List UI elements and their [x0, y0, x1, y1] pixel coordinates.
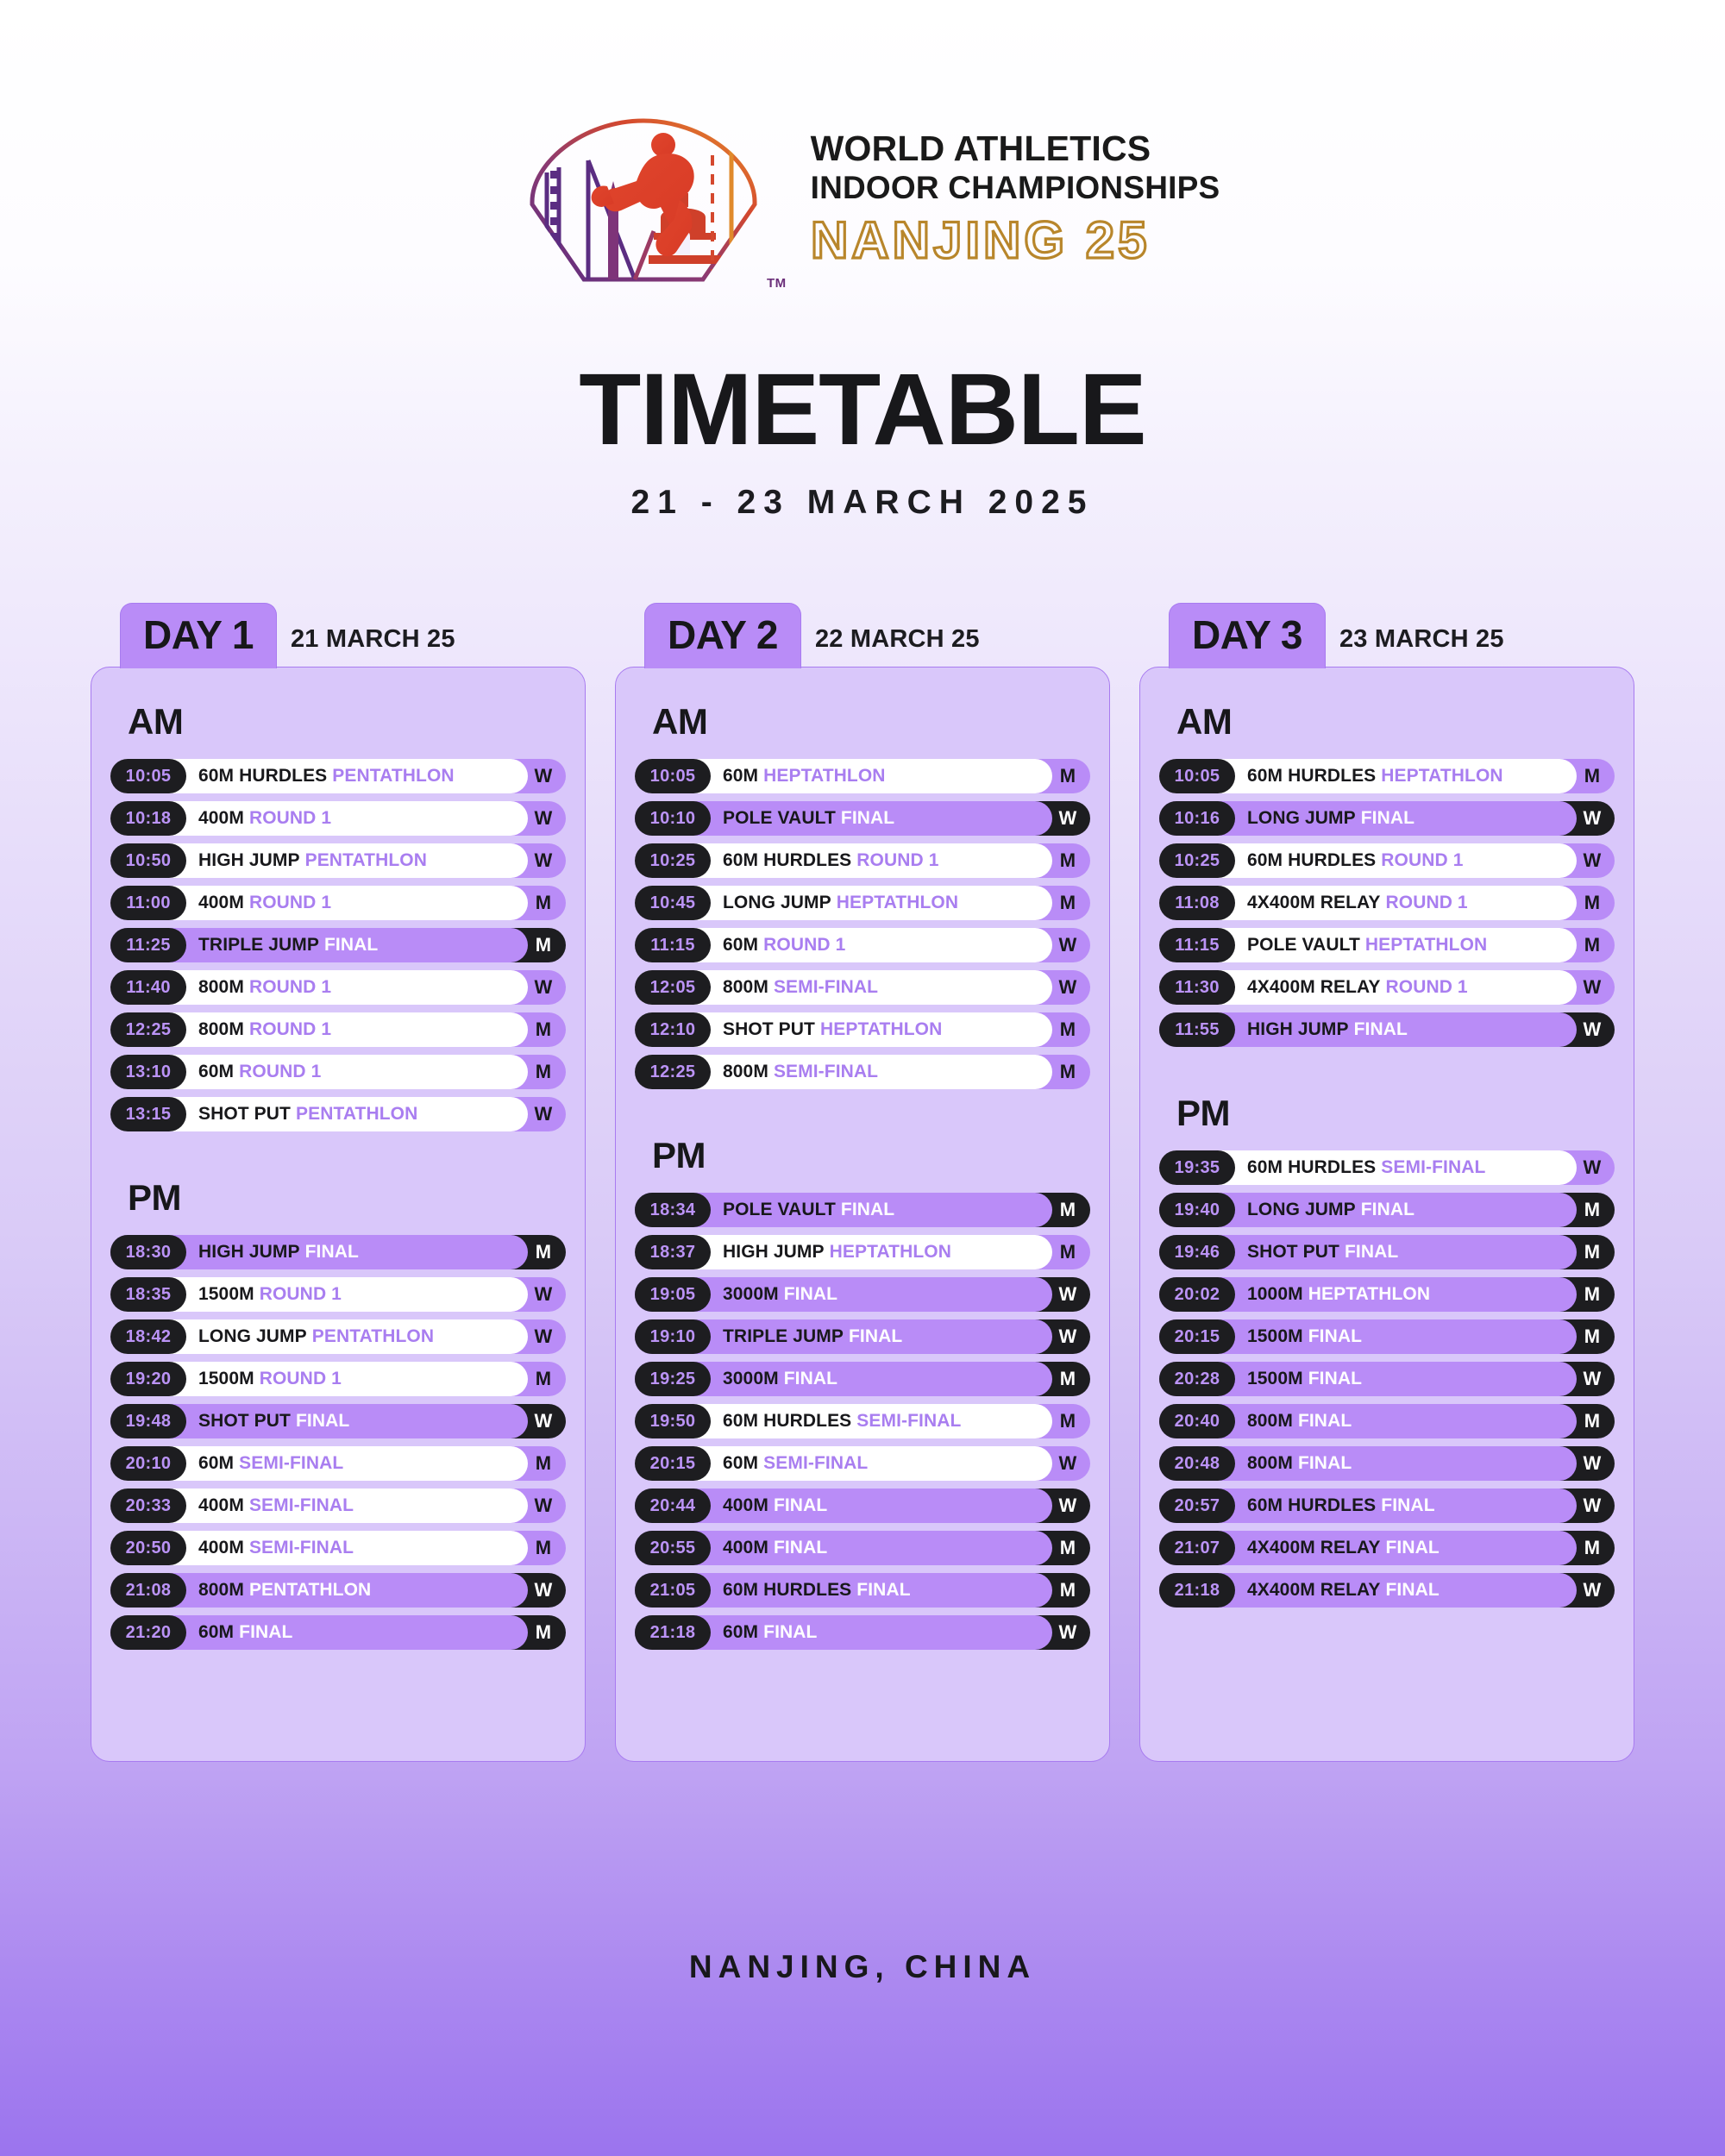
gender-badge: W [1570, 1362, 1615, 1396]
event-time: 20:28 [1159, 1362, 1235, 1396]
event-row[interactable]: 19:3560M HURDLESSEMI-FINALW [1159, 1150, 1615, 1185]
event-pill: 13:15SHOT PUTPENTATHLON [110, 1097, 528, 1131]
days-grid: DAY 121 MARCH 25AM10:0560M HURDLESPENTAT… [91, 603, 1634, 1762]
event-row[interactable]: 11:25TRIPLE JUMPFINALM [110, 928, 566, 962]
gender-badge: M [1045, 759, 1090, 793]
gender-badge: W [1045, 970, 1090, 1005]
event-pill: 21:08800MPENTATHLON [110, 1573, 528, 1608]
event-time: 11:08 [1159, 886, 1235, 920]
event-name-and-stage: 60MFINAL [723, 1622, 817, 1643]
event-pill: 10:0560MHEPTATHLON [635, 759, 1052, 793]
event-discipline: 60M HURDLES [1247, 850, 1376, 870]
gender-badge: M [521, 1362, 566, 1396]
event-time: 19:05 [635, 1277, 711, 1312]
event-name-and-stage: SHOT PUTFINAL [1247, 1242, 1398, 1263]
event-row[interactable]: 11:15POLE VAULTHEPTATHLONM [1159, 928, 1615, 962]
event-pill: 11:1560MROUND 1 [635, 928, 1052, 962]
event-stage: FINAL [1361, 1200, 1414, 1219]
event-stage: HEPTATHLON [837, 893, 958, 912]
day-header: DAY 222 MARCH 25 [615, 603, 1110, 668]
event-stage: FINAL [239, 1622, 292, 1642]
event-stage: PENTATHLON [305, 850, 427, 870]
event-name-and-stage: 60M HURDLESSEMI-FINAL [723, 1411, 961, 1432]
event-time: 20:44 [635, 1489, 711, 1523]
gender-badge: W [1045, 1615, 1090, 1650]
event-name-and-stage: 60MFINAL [198, 1622, 292, 1643]
event-time: 18:34 [635, 1193, 711, 1227]
event-row[interactable]: 11:00400MROUND 1M [110, 886, 566, 920]
gender-badge: M [1570, 1531, 1615, 1565]
event-time: 21:20 [110, 1615, 186, 1650]
gender-badge: W [521, 1573, 566, 1608]
event-discipline: HIGH JUMP [198, 1242, 300, 1262]
event-stage: ROUND 1 [1386, 977, 1468, 997]
event-pill: 19:053000MFINAL [635, 1277, 1052, 1312]
event-stage: FINAL [305, 1242, 359, 1262]
event-rows-pm: 18:34POLE VAULTFINALM18:37HIGH JUMPHEPTA… [635, 1193, 1090, 1650]
gender-badge: M [1045, 1012, 1090, 1047]
event-name-and-stage: LONG JUMPFINAL [1247, 808, 1414, 829]
event-time: 21:07 [1159, 1531, 1235, 1565]
event-stage: PENTATHLON [296, 1104, 417, 1124]
event-stage: FINAL [1298, 1411, 1352, 1431]
event-discipline: 60M [723, 1622, 758, 1642]
event-discipline: 1500M [1247, 1369, 1303, 1388]
event-pill: 12:25800MSEMI-FINAL [635, 1055, 1052, 1089]
event-time: 10:16 [1159, 801, 1235, 836]
event-stage: SEMI-FINAL [774, 977, 878, 997]
event-pill: 20:151500MFINAL [1159, 1319, 1577, 1354]
event-time: 11:40 [110, 970, 186, 1005]
event-name-and-stage: LONG JUMPHEPTATHLON [723, 893, 958, 913]
event-time: 10:18 [110, 801, 186, 836]
gender-badge: W [521, 843, 566, 878]
event-name-and-stage: POLE VAULTFINAL [723, 808, 894, 829]
gender-badge: M [1045, 1573, 1090, 1608]
event-discipline: SHOT PUT [198, 1104, 291, 1124]
day-date: 23 MARCH 25 [1339, 625, 1504, 668]
event-name-and-stage: TRIPLE JUMPFINAL [198, 935, 378, 956]
event-row[interactable]: 19:10TRIPLE JUMPFINALW [635, 1319, 1090, 1354]
event-row[interactable]: 18:42LONG JUMPPENTATHLONW [110, 1319, 566, 1354]
event-discipline: 800M [723, 977, 768, 997]
event-name-and-stage: 4X400M RELAYFINAL [1247, 1580, 1440, 1601]
event-stage: ROUND 1 [239, 1062, 321, 1081]
event-stage: FINAL [784, 1369, 837, 1388]
event-row[interactable]: 20:281500MFINALW [1159, 1362, 1615, 1396]
event-discipline: 60M [723, 766, 758, 786]
event-name-and-stage: 60MHEPTATHLON [723, 766, 886, 787]
event-discipline: 60M HURDLES [1247, 1495, 1376, 1515]
event-pill: 11:00400MROUND 1 [110, 886, 528, 920]
event-discipline: LONG JUMP [1247, 1200, 1356, 1219]
event-discipline: HIGH JUMP [1247, 1019, 1349, 1039]
gender-badge: W [521, 970, 566, 1005]
gender-badge: M [1570, 759, 1615, 793]
event-stage: FINAL [774, 1538, 827, 1557]
event-name-and-stage: 800MROUND 1 [198, 977, 331, 998]
event-pill: 20:40800MFINAL [1159, 1404, 1577, 1438]
event-pill: 20:5760M HURDLESFINAL [1159, 1489, 1577, 1523]
event-pill: 18:351500MROUND 1 [110, 1277, 528, 1312]
event-name-and-stage: HIGH JUMPFINAL [1247, 1019, 1408, 1040]
event-stage: ROUND 1 [1381, 850, 1463, 870]
event-row[interactable]: 21:074X400M RELAYFINALM [1159, 1531, 1615, 1565]
gender-badge: M [1045, 1362, 1090, 1396]
event-stage: FINAL [1354, 1019, 1408, 1039]
event-row[interactable]: 19:40LONG JUMPFINALM [1159, 1193, 1615, 1227]
event-row[interactable]: 19:253000MFINALM [635, 1362, 1090, 1396]
event-name-and-stage: LONG JUMPPENTATHLON [198, 1326, 434, 1347]
event-name-and-stage: 4X400M RELAYROUND 1 [1247, 893, 1468, 913]
event-time: 10:05 [635, 759, 711, 793]
session-label-pm: PM [110, 1131, 566, 1235]
event-discipline: 60M [723, 935, 758, 955]
event-discipline: 60M HURDLES [1247, 1157, 1376, 1177]
event-discipline: SHOT PUT [198, 1411, 291, 1431]
event-name-and-stage: POLE VAULTFINAL [723, 1200, 894, 1220]
event-stage: HEPTATHLON [820, 1019, 942, 1039]
event-name-and-stage: 3000MFINAL [723, 1369, 837, 1389]
event-pill: 19:40LONG JUMPFINAL [1159, 1193, 1577, 1227]
event-time: 20:48 [1159, 1446, 1235, 1481]
event-discipline: 60M HURDLES [198, 766, 327, 786]
event-discipline: 1500M [198, 1369, 254, 1388]
gender-badge: M [521, 1055, 566, 1089]
event-time: 10:25 [1159, 843, 1235, 878]
event-stage: SEMI-FINAL [763, 1453, 868, 1473]
gender-badge: M [1570, 886, 1615, 920]
event-name-and-stage: 1500MFINAL [1247, 1369, 1362, 1389]
event-pill: 10:0560M HURDLESHEPTATHLON [1159, 759, 1577, 793]
session-label-pm: PM [635, 1089, 1090, 1193]
event-row[interactable]: 21:1860MFINALW [635, 1615, 1090, 1650]
event-row[interactable]: 12:25800MSEMI-FINALM [635, 1055, 1090, 1089]
event-time: 11:15 [635, 928, 711, 962]
event-row[interactable]: 13:1060MROUND 1M [110, 1055, 566, 1089]
event-row[interactable]: 10:10POLE VAULTFINALW [635, 801, 1090, 836]
event-stage: PENTATHLON [249, 1580, 371, 1600]
gender-badge: W [1570, 1489, 1615, 1523]
event-time: 19:25 [635, 1362, 711, 1396]
event-time: 20:57 [1159, 1489, 1235, 1523]
session-label-pm: PM [1159, 1047, 1615, 1150]
event-row[interactable]: 18:34POLE VAULTFINALM [635, 1193, 1090, 1227]
event-name-and-stage: 400MFINAL [723, 1538, 827, 1558]
gender-badge: W [1045, 1446, 1090, 1481]
event-row[interactable]: 20:021000MHEPTATHLONM [1159, 1277, 1615, 1312]
event-row[interactable]: 10:45LONG JUMPHEPTATHLONM [635, 886, 1090, 920]
event-time: 10:50 [110, 843, 186, 878]
event-discipline: SHOT PUT [723, 1019, 815, 1039]
event-row[interactable]: 10:2560M HURDLESROUND 1M [635, 843, 1090, 878]
event-discipline: 400M [198, 808, 244, 828]
event-time: 11:00 [110, 886, 186, 920]
event-stage: FINAL [1298, 1453, 1352, 1473]
page-header: TM WORLD ATHLETICS INDOOR CHAMPIONSHIPS … [0, 0, 1725, 522]
event-pill: 19:253000MFINAL [635, 1362, 1052, 1396]
event-row[interactable]: 20:44400MFINALW [635, 1489, 1090, 1523]
event-discipline: 60M [198, 1062, 234, 1081]
event-discipline: POLE VAULT [723, 808, 836, 828]
event-discipline: HIGH JUMP [723, 1242, 825, 1262]
event-time: 13:15 [110, 1097, 186, 1131]
event-pill: 12:25800MROUND 1 [110, 1012, 528, 1047]
event-time: 19:46 [1159, 1235, 1235, 1269]
event-name-and-stage: 60M HURDLESSEMI-FINAL [1247, 1157, 1485, 1178]
event-row[interactable]: 10:2560M HURDLESROUND 1W [1159, 843, 1615, 878]
event-stage: FINAL [1361, 808, 1414, 828]
session-label-am: AM [110, 690, 566, 759]
event-discipline: 4X400M RELAY [1247, 893, 1381, 912]
gender-badge: W [1570, 1012, 1615, 1047]
event-row[interactable]: 10:18400MROUND 1W [110, 801, 566, 836]
event-name-and-stage: 1500MROUND 1 [198, 1284, 342, 1305]
event-name-and-stage: SHOT PUTHEPTATHLON [723, 1019, 942, 1040]
event-row[interactable]: 10:0560M HURDLESHEPTATHLONM [1159, 759, 1615, 793]
gender-badge: W [521, 1404, 566, 1438]
gender-badge: W [1570, 801, 1615, 836]
event-stage: ROUND 1 [249, 977, 331, 997]
event-row[interactable]: 12:25800MROUND 1M [110, 1012, 566, 1047]
event-stage: PENTATHLON [312, 1326, 434, 1346]
event-stage: FINAL [784, 1284, 837, 1304]
gender-badge: M [1045, 1055, 1090, 1089]
event-discipline: POLE VAULT [723, 1200, 836, 1219]
event-time: 11:25 [110, 928, 186, 962]
event-row[interactable]: 11:304X400M RELAYROUND 1W [1159, 970, 1615, 1005]
event-row[interactable]: 10:50HIGH JUMPPENTATHLONW [110, 843, 566, 878]
event-stage: HEPTATHLON [763, 766, 885, 786]
gender-badge: W [1045, 1319, 1090, 1354]
event-pill: 19:48SHOT PUTFINAL [110, 1404, 528, 1438]
event-name-and-stage: 60M HURDLESHEPTATHLON [1247, 766, 1503, 787]
event-name-and-stage: 3000MFINAL [723, 1284, 837, 1305]
event-name-and-stage: SHOT PUTFINAL [198, 1411, 349, 1432]
event-discipline: POLE VAULT [1247, 935, 1360, 955]
day-column-2: DAY 222 MARCH 25AM10:0560MHEPTATHLONM10:… [615, 603, 1110, 1762]
event-row[interactable]: 20:40800MFINALM [1159, 1404, 1615, 1438]
day-tab[interactable]: DAY 3 [1169, 603, 1326, 668]
event-row[interactable]: 11:40800MROUND 1W [110, 970, 566, 1005]
event-pill: 20:1060MSEMI-FINAL [110, 1446, 528, 1481]
event-discipline: 60M HURDLES [723, 850, 851, 870]
event-pill: 12:10SHOT PUTHEPTATHLON [635, 1012, 1052, 1047]
day-tab[interactable]: DAY 1 [120, 603, 277, 668]
event-pill: 19:5060M HURDLESSEMI-FINAL [635, 1404, 1052, 1438]
event-row[interactable]: 20:151500MFINALM [1159, 1319, 1615, 1354]
event-rows-pm: 19:3560M HURDLESSEMI-FINALW19:40LONG JUM… [1159, 1150, 1615, 1608]
event-stage: SEMI-FINAL [239, 1453, 343, 1473]
event-row[interactable]: 18:37HIGH JUMPHEPTATHLONM [635, 1235, 1090, 1269]
event-pill: 19:201500MROUND 1 [110, 1362, 528, 1396]
event-time: 19:50 [635, 1404, 711, 1438]
event-stage: FINAL [1381, 1495, 1434, 1515]
session-label-am: AM [1159, 690, 1615, 759]
event-time: 12:25 [635, 1055, 711, 1089]
day-tab[interactable]: DAY 2 [644, 603, 801, 668]
event-row[interactable]: 21:08800MPENTATHLONW [110, 1573, 566, 1608]
day-card: AM10:0560M HURDLESHEPTATHLONM10:16LONG J… [1139, 667, 1634, 1762]
event-row[interactable]: 10:0560M HURDLESPENTATHLONW [110, 759, 566, 793]
event-row[interactable]: 20:5760M HURDLESFINALW [1159, 1489, 1615, 1523]
event-discipline: 1500M [1247, 1326, 1303, 1346]
event-name-and-stage: HIGH JUMPFINAL [198, 1242, 359, 1263]
event-name-and-stage: POLE VAULTHEPTATHLON [1247, 935, 1487, 956]
event-row[interactable]: 12:10SHOT PUTHEPTATHLONM [635, 1012, 1090, 1047]
event-discipline: 4X400M RELAY [1247, 1580, 1381, 1600]
event-time: 12:05 [635, 970, 711, 1005]
day-card: AM10:0560M HURDLESPENTATHLONW10:18400MRO… [91, 667, 586, 1762]
gender-badge: W [521, 1319, 566, 1354]
event-row[interactable]: 11:1560MROUND 1W [635, 928, 1090, 962]
gender-badge: M [1045, 1404, 1090, 1438]
event-row[interactable]: 19:46SHOT PUTFINALM [1159, 1235, 1615, 1269]
event-row[interactable]: 18:30HIGH JUMPFINALM [110, 1235, 566, 1269]
event-time: 10:05 [1159, 759, 1235, 793]
event-stage: SEMI-FINAL [249, 1495, 354, 1515]
event-pill: 10:10POLE VAULTFINAL [635, 801, 1052, 836]
event-name-and-stage: 400MROUND 1 [198, 893, 331, 913]
event-pill: 11:084X400M RELAYROUND 1 [1159, 886, 1577, 920]
event-row[interactable]: 19:48SHOT PUTFINALW [110, 1404, 566, 1438]
event-discipline: 400M [198, 893, 244, 912]
event-stage: ROUND 1 [260, 1369, 342, 1388]
day-header: DAY 323 MARCH 25 [1139, 603, 1634, 668]
event-row[interactable]: 20:1060MSEMI-FINALM [110, 1446, 566, 1481]
day-header: DAY 121 MARCH 25 [91, 603, 586, 668]
event-name-and-stage: LONG JUMPFINAL [1247, 1200, 1414, 1220]
event-row[interactable]: 20:1560MSEMI-FINALW [635, 1446, 1090, 1481]
event-pill: 12:05800MSEMI-FINAL [635, 970, 1052, 1005]
event-row[interactable]: 13:15SHOT PUTPENTATHLONW [110, 1097, 566, 1131]
event-time: 20:02 [1159, 1277, 1235, 1312]
event-name-and-stage: 800MSEMI-FINAL [723, 1062, 878, 1082]
event-discipline: 4X400M RELAY [1247, 977, 1381, 997]
event-name-and-stage: TRIPLE JUMPFINAL [723, 1326, 902, 1347]
event-time: 10:10 [635, 801, 711, 836]
event-discipline: 60M HURDLES [1247, 766, 1376, 786]
event-name-and-stage: 1500MFINAL [1247, 1326, 1362, 1347]
event-discipline: TRIPLE JUMP [198, 935, 319, 955]
gender-badge: M [521, 1012, 566, 1047]
event-stage: SEMI-FINAL [249, 1538, 354, 1557]
event-stage: FINAL [1386, 1538, 1440, 1557]
event-discipline: 60M HURDLES [723, 1411, 851, 1431]
event-discipline: 1000M [1247, 1284, 1303, 1304]
event-name-and-stage: 400MROUND 1 [198, 808, 331, 829]
event-pill: 21:074X400M RELAYFINAL [1159, 1531, 1577, 1565]
event-row[interactable]: 21:2060MFINALM [110, 1615, 566, 1650]
event-pill: 18:37HIGH JUMPHEPTATHLON [635, 1235, 1052, 1269]
event-row[interactable]: 20:50400MSEMI-FINALM [110, 1531, 566, 1565]
event-name-and-stage: 60MSEMI-FINAL [723, 1453, 868, 1474]
event-time: 18:42 [110, 1319, 186, 1354]
event-name-and-stage: HIGH JUMPHEPTATHLON [723, 1242, 951, 1263]
event-discipline: SHOT PUT [1247, 1242, 1339, 1262]
event-row[interactable]: 21:184X400M RELAYFINALW [1159, 1573, 1615, 1608]
event-time: 20:15 [1159, 1319, 1235, 1354]
event-discipline: 800M [198, 1580, 244, 1600]
event-rows-am: 10:0560M HURDLESPENTATHLONW10:18400MROUN… [110, 759, 566, 1131]
event-discipline: 60M HURDLES [723, 1580, 851, 1600]
event-name-and-stage: 800MFINAL [1247, 1453, 1352, 1474]
event-time: 20:15 [635, 1446, 711, 1481]
gender-badge: W [521, 801, 566, 836]
gender-badge: M [1045, 1235, 1090, 1269]
event-pill: 11:304X400M RELAYROUND 1 [1159, 970, 1577, 1005]
event-time: 21:18 [635, 1615, 711, 1650]
event-stage: FINAL [763, 1622, 817, 1642]
event-time: 19:20 [110, 1362, 186, 1396]
logo-line-world-athletics: WORLD ATHLETICS [811, 131, 1220, 166]
page-subtitle-dates: 21 - 23 MARCH 2025 [631, 484, 1095, 522]
event-name-and-stage: 60MROUND 1 [198, 1062, 321, 1082]
event-row[interactable]: 12:05800MSEMI-FINALW [635, 970, 1090, 1005]
gender-badge: M [1570, 1319, 1615, 1354]
event-row[interactable]: 21:0560M HURDLESFINALM [635, 1573, 1090, 1608]
event-discipline: LONG JUMP [1247, 808, 1356, 828]
gender-badge: W [1570, 1573, 1615, 1608]
event-pill: 20:55400MFINAL [635, 1531, 1052, 1565]
event-row[interactable]: 20:48800MFINALW [1159, 1446, 1615, 1481]
event-stage: FINAL [774, 1495, 827, 1515]
event-row[interactable]: 11:55HIGH JUMPFINALW [1159, 1012, 1615, 1047]
event-row[interactable]: 20:55400MFINALM [635, 1531, 1090, 1565]
event-time: 19:10 [635, 1319, 711, 1354]
gender-badge: W [521, 1097, 566, 1131]
event-pill: 20:48800MFINAL [1159, 1446, 1577, 1481]
event-pill: 19:3560M HURDLESSEMI-FINAL [1159, 1150, 1577, 1185]
event-pill: 21:2060MFINAL [110, 1615, 528, 1650]
event-time: 20:40 [1159, 1404, 1235, 1438]
event-pill: 19:46SHOT PUTFINAL [1159, 1235, 1577, 1269]
event-time: 11:30 [1159, 970, 1235, 1005]
event-time: 10:45 [635, 886, 711, 920]
event-discipline: HIGH JUMP [198, 850, 300, 870]
event-name-and-stage: 800MFINAL [1247, 1411, 1352, 1432]
event-name-and-stage: 60MROUND 1 [723, 935, 845, 956]
page-title: TIMETABLE [579, 361, 1145, 458]
event-name-and-stage: SHOT PUTPENTATHLON [198, 1104, 417, 1125]
event-time: 20:55 [635, 1531, 711, 1565]
gender-badge: W [1570, 970, 1615, 1005]
event-row[interactable]: 20:33400MSEMI-FINALW [110, 1489, 566, 1523]
event-name-and-stage: 4X400M RELAYFINAL [1247, 1538, 1440, 1558]
event-stage: FINAL [324, 935, 378, 955]
event-stage: FINAL [1386, 1580, 1440, 1600]
event-row[interactable]: 10:0560MHEPTATHLONM [635, 759, 1090, 793]
event-pill: 20:33400MSEMI-FINAL [110, 1489, 528, 1523]
event-row[interactable]: 18:351500MROUND 1W [110, 1277, 566, 1312]
day-card: AM10:0560MHEPTATHLONM10:10POLE VAULTFINA… [615, 667, 1110, 1762]
event-row[interactable]: 11:084X400M RELAYROUND 1M [1159, 886, 1615, 920]
gender-badge: M [1570, 1277, 1615, 1312]
event-row[interactable]: 10:16LONG JUMPFINALW [1159, 801, 1615, 836]
event-row[interactable]: 19:5060M HURDLESSEMI-FINALM [635, 1404, 1090, 1438]
day-column-3: DAY 323 MARCH 25AM10:0560M HURDLESHEPTAT… [1139, 603, 1634, 1762]
event-name-and-stage: 1000MHEPTATHLON [1247, 1284, 1430, 1305]
gender-badge: W [1045, 1489, 1090, 1523]
event-row[interactable]: 19:201500MROUND 1M [110, 1362, 566, 1396]
event-time: 11:15 [1159, 928, 1235, 962]
event-name-and-stage: 4X400M RELAYROUND 1 [1247, 977, 1468, 998]
event-time: 19:35 [1159, 1150, 1235, 1185]
event-row[interactable]: 19:053000MFINALW [635, 1277, 1090, 1312]
day-date: 21 MARCH 25 [291, 625, 455, 668]
day-column-1: DAY 121 MARCH 25AM10:0560M HURDLESPENTAT… [91, 603, 586, 1762]
event-discipline: 60M [198, 1622, 234, 1642]
